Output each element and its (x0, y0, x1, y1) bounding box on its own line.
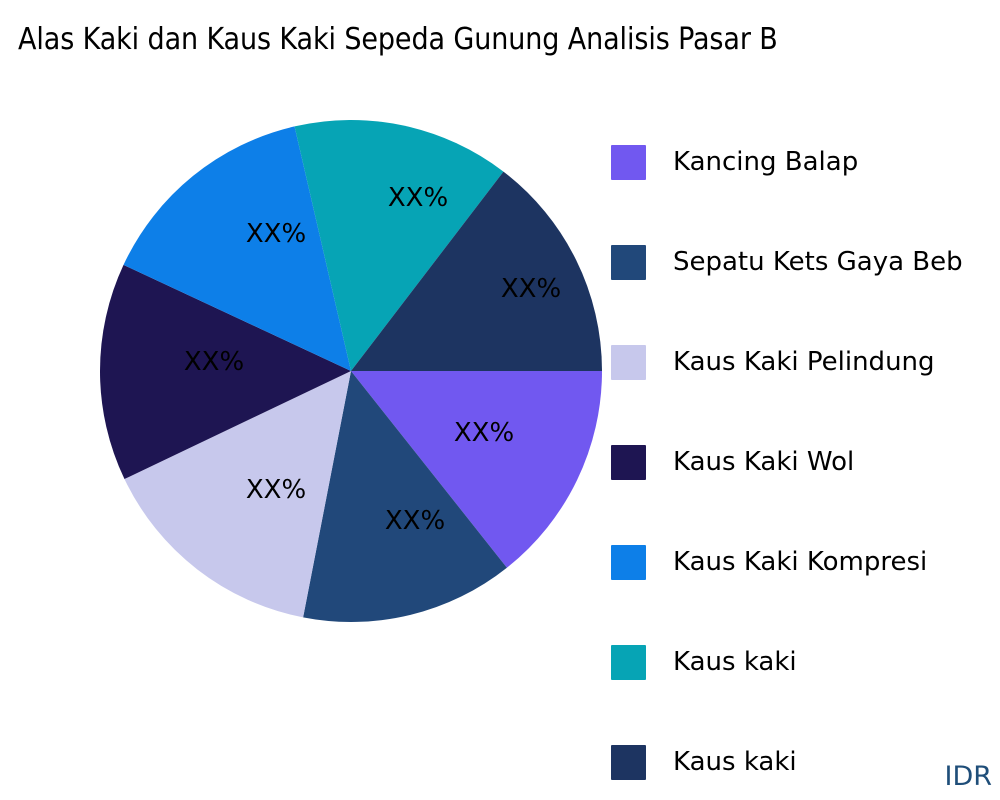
legend-swatch (611, 445, 646, 480)
pie-slice-label: XX% (385, 506, 445, 536)
pie-slice-label: XX% (246, 475, 306, 505)
currency-note: IDR (944, 761, 992, 792)
pie-slice-label: XX% (246, 219, 306, 249)
pie-chart: XX%XX%XX%XX%XX%XX%XX% (0, 0, 630, 800)
legend-swatch (611, 245, 646, 280)
legend: Kancing BalapSepatu Kets Gaya BebKaus Ka… (611, 112, 1000, 800)
pie-slice-label: XX% (454, 418, 514, 448)
legend-swatch (611, 345, 646, 380)
legend-label: Kaus Kaki Pelindung (673, 347, 935, 377)
legend-swatch (611, 745, 646, 780)
pie-slice-label: XX% (184, 347, 244, 377)
legend-label: Kaus Kaki Wol (673, 447, 854, 477)
legend-item[interactable]: Kancing Balap (611, 112, 1000, 212)
legend-swatch (611, 145, 646, 180)
legend-label: Kaus kaki (673, 647, 797, 677)
legend-item[interactable]: Kaus kaki (611, 612, 1000, 712)
legend-item[interactable]: Kaus Kaki Wol (611, 412, 1000, 512)
legend-label: Sepatu Kets Gaya Beb (673, 247, 963, 277)
legend-label: Kaus Kaki Kompresi (673, 547, 927, 577)
legend-label: Kancing Balap (673, 147, 858, 177)
legend-label: Kaus kaki (673, 747, 797, 777)
chart-page: Alas Kaki dan Kaus Kaki Sepeda Gunung An… (0, 0, 1000, 800)
legend-item[interactable]: Sepatu Kets Gaya Beb (611, 212, 1000, 312)
legend-item[interactable]: Kaus kaki (611, 712, 1000, 800)
pie-slice-label: XX% (388, 183, 448, 213)
legend-item[interactable]: Kaus Kaki Kompresi (611, 512, 1000, 612)
legend-swatch (611, 545, 646, 580)
legend-swatch (611, 645, 646, 680)
pie-slice-label: XX% (501, 274, 561, 304)
pie-slice-group (100, 120, 602, 622)
legend-item[interactable]: Kaus Kaki Pelindung (611, 312, 1000, 412)
pie-svg (0, 0, 630, 800)
